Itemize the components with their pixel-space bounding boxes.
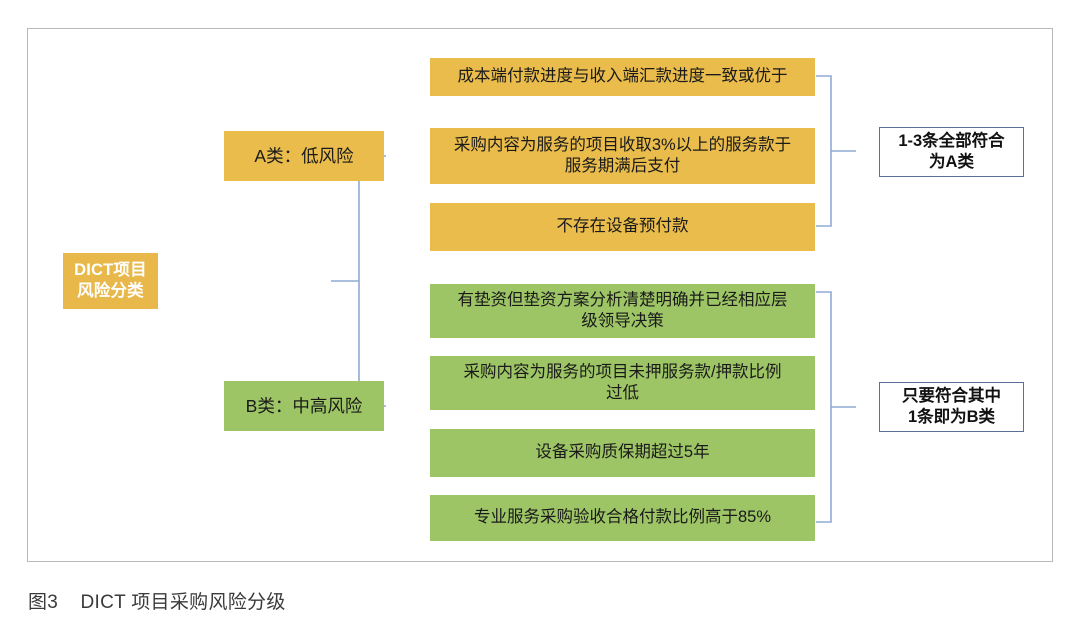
figure-frame: DICT项目 风险分类 A类：低风险 成本端付款进度与收入端汇款进度一致或优于 …: [27, 28, 1053, 562]
node-criterion-b-1[interactable]: 有垫资但垫资方案分析清楚明确并已经相应层 级领导决策: [430, 284, 815, 338]
node-category-b[interactable]: B类：中高风险: [224, 381, 384, 431]
node-criterion-a-2[interactable]: 采购内容为服务的项目收取3%以上的服务款于 服务期满后支付: [430, 128, 815, 184]
node-criterion-b-3[interactable]: 设备采购质保期超过5年: [430, 429, 815, 477]
figure-caption: 图3 DICT 项目采购风险分级: [28, 587, 286, 614]
node-conclusion-b[interactable]: 只要符合其中 1条即为B类: [879, 382, 1024, 432]
node-criterion-a-1[interactable]: 成本端付款进度与收入端汇款进度一致或优于: [430, 58, 815, 96]
diagram-canvas: DICT项目 风险分类 A类：低风险 成本端付款进度与收入端汇款进度一致或优于 …: [28, 29, 1052, 561]
node-criterion-b-2[interactable]: 采购内容为服务的项目未押服务款/押款比例 过低: [430, 356, 815, 410]
node-category-a[interactable]: A类：低风险: [224, 131, 384, 181]
node-conclusion-a[interactable]: 1-3条全部符合 为A类: [879, 127, 1024, 177]
node-criterion-b-4[interactable]: 专业服务采购验收合格付款比例高于85%: [430, 495, 815, 541]
node-criterion-a-3[interactable]: 不存在设备预付款: [430, 203, 815, 251]
node-root[interactable]: DICT项目 风险分类: [63, 253, 158, 309]
